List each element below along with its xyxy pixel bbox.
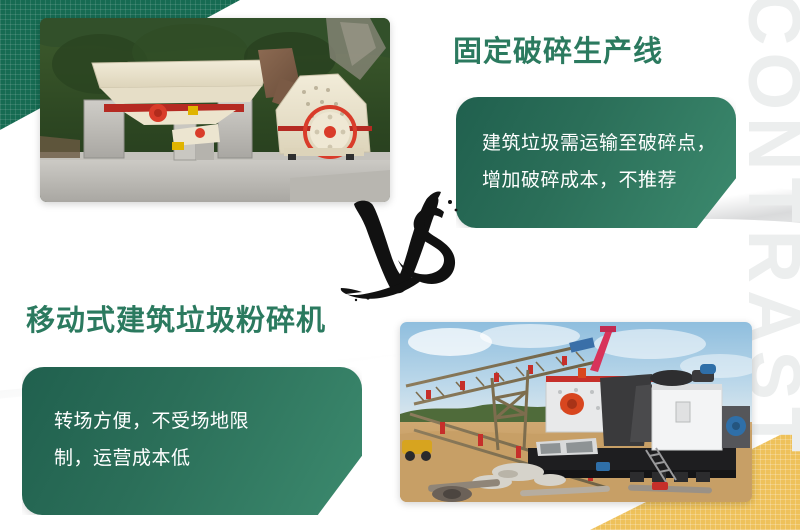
mobile-crusher-callout-line-2: 制，运营成本低 — [54, 440, 344, 477]
vs-icon — [340, 188, 465, 308]
mobile-crusher-photo — [400, 322, 752, 502]
fixed-line-callout: 建筑垃圾需运输至破碎点， 增加破碎成本，不推荐 — [456, 97, 736, 228]
fixed-line-title: 固定破碎生产线 — [453, 28, 663, 70]
vs-brush-mark — [340, 188, 465, 308]
fixed-crusher-scene — [40, 18, 390, 202]
mobile-crusher-scene — [400, 322, 752, 502]
fixed-line-callout-line-1: 建筑垃圾需运输至破碎点， — [482, 125, 722, 162]
fixed-crusher-photo — [40, 18, 390, 202]
mobile-crusher-title: 移动式建筑垃圾粉碎机 — [26, 297, 326, 339]
fixed-line-callout-line-2: 增加破碎成本，不推荐 — [482, 162, 722, 199]
comparison-infographic: CONTRAST — [0, 0, 800, 530]
mobile-crusher-callout: 转场方便，不受场地限 制，运营成本低 — [22, 367, 362, 515]
mobile-crusher-callout-line-1: 转场方便，不受场地限 — [54, 403, 344, 440]
